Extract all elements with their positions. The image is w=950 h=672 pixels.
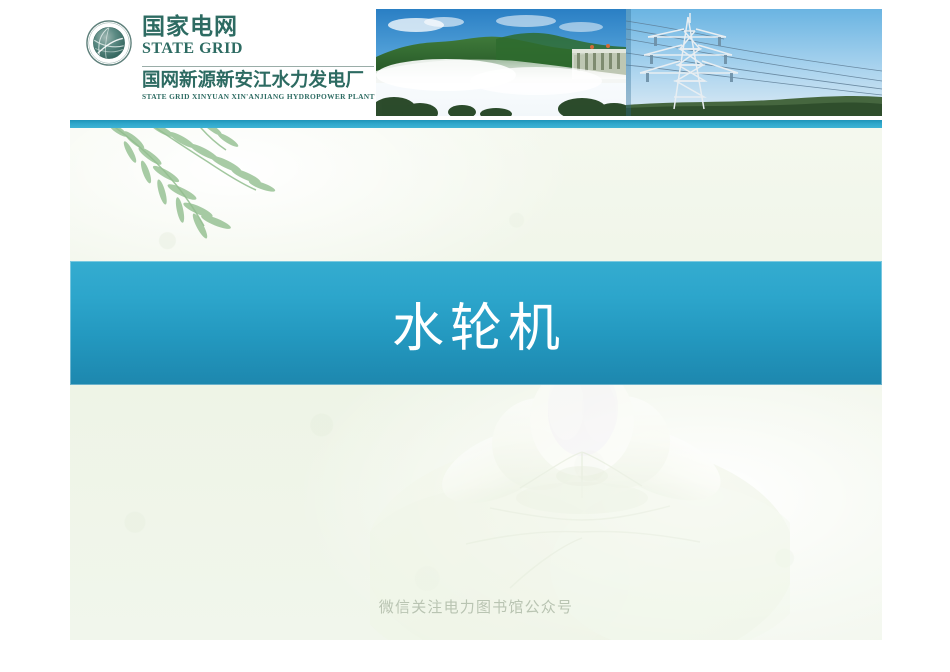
transmission-tower-photo (626, 9, 882, 116)
brand-text-group: 国家电网 STATE GRID (142, 14, 372, 58)
willow-branch-decoration (100, 128, 330, 252)
page-title: 水轮机 (70, 261, 882, 385)
state-grid-logo-lockup: 国家电网 STATE GRID 国网新源新安江水力发电厂 STATE GRID … (86, 14, 376, 112)
plant-text-group: 国网新源新安江水力发电厂 STATE GRID XINYUAN XIN'ANJI… (142, 70, 382, 102)
slide-page: 国家电网 STATE GRID 国网新源新安江水力发电厂 STATE GRID … (70, 0, 882, 640)
logo-divider-line (142, 66, 374, 67)
header-teal-rule (70, 120, 882, 128)
plant-name-cn: 国网新源新安江水力发电厂 (142, 70, 382, 92)
slide-body: 水轮机 微信关注电力图书馆公众号 (70, 128, 882, 640)
header-photo-strip (376, 9, 882, 116)
brand-name-cn: 国家电网 (142, 14, 372, 40)
title-band: 水轮机 (70, 261, 882, 385)
watermark-note: 微信关注电力图书馆公众号 (70, 596, 882, 617)
plant-name-en: STATE GRID XINYUAN XIN'ANJIANG HYDROPOWE… (142, 92, 382, 102)
state-grid-globe-emblem (86, 20, 132, 66)
brand-name-en: STATE GRID (142, 40, 372, 58)
slide-header: 国家电网 STATE GRID 国网新源新安江水力发电厂 STATE GRID … (70, 0, 882, 120)
dam-spillway-photo (376, 9, 626, 116)
